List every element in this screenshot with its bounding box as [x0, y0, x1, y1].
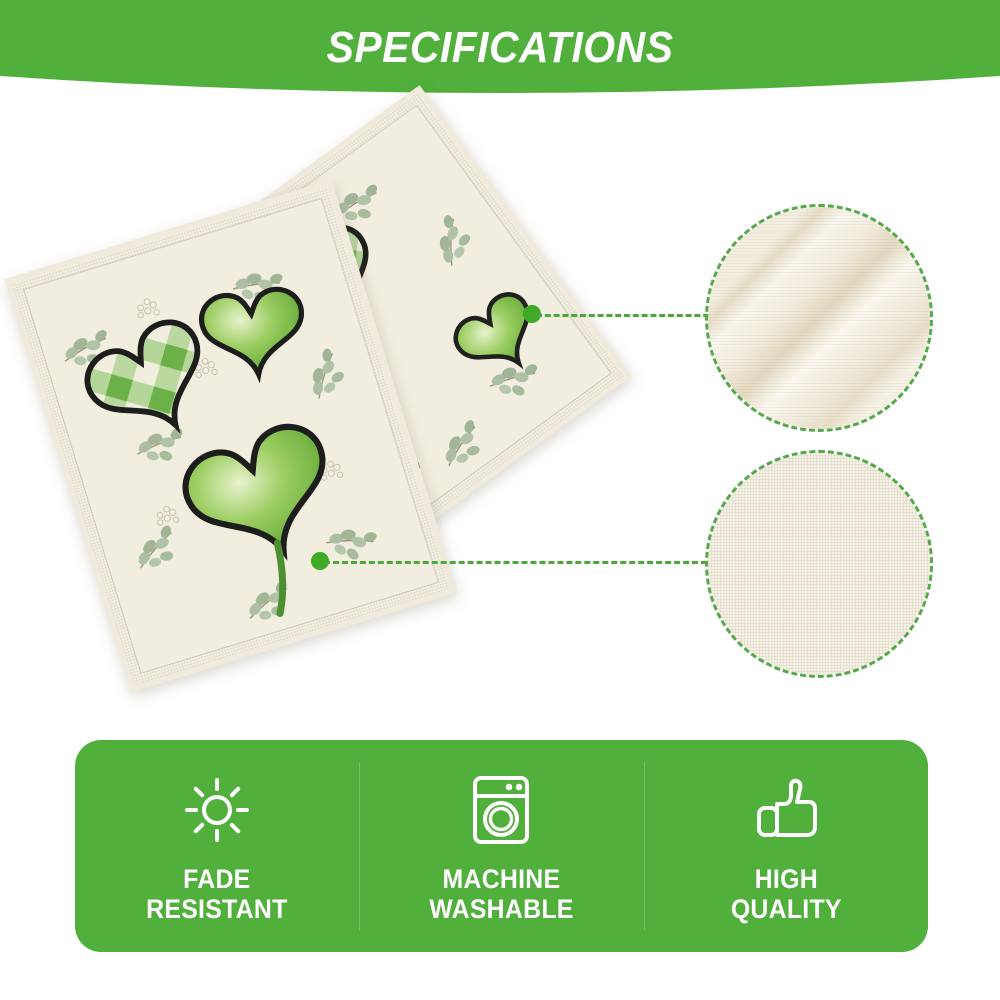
connector-line-edge-detail	[536, 314, 718, 317]
feature-fade-resistant: FADE RESISTANT	[75, 740, 359, 952]
feature-line1: HIGH	[754, 864, 817, 894]
feature-label-high-quality: HIGH QUALITY	[730, 864, 841, 925]
washing-machine-icon	[470, 774, 532, 846]
thumbs-up-icon	[751, 774, 821, 846]
hemmed-edge-closeup	[705, 204, 933, 432]
feature-high-quality: HIGH QUALITY	[644, 740, 928, 952]
linen-weave-texture	[708, 453, 930, 675]
feature-label-machine-washable: MACHINE WASHABLE	[429, 864, 573, 925]
specifications-page: SPECIFICATIONS	[0, 0, 1000, 1000]
sun-icon	[182, 774, 252, 846]
linen-weave-closeup	[705, 450, 933, 678]
connector-line-weave-detail	[324, 561, 716, 564]
feature-line2: RESISTANT	[146, 894, 287, 925]
feature-line2: WASHABLE	[429, 894, 573, 925]
feature-line1: MACHINE	[443, 864, 561, 894]
page-title: SPECIFICATIONS	[35, 24, 965, 72]
product-showcase	[0, 100, 1000, 725]
feature-line2: QUALITY	[730, 894, 841, 925]
feature-label-fade-resistant: FADE RESISTANT	[146, 864, 287, 925]
feature-machine-washable: MACHINE WASHABLE	[359, 740, 643, 952]
feature-bar: FADE RESISTANT MACHINE	[75, 740, 928, 952]
feature-line1: FADE	[183, 864, 250, 894]
fabric-fold-texture	[708, 207, 930, 429]
